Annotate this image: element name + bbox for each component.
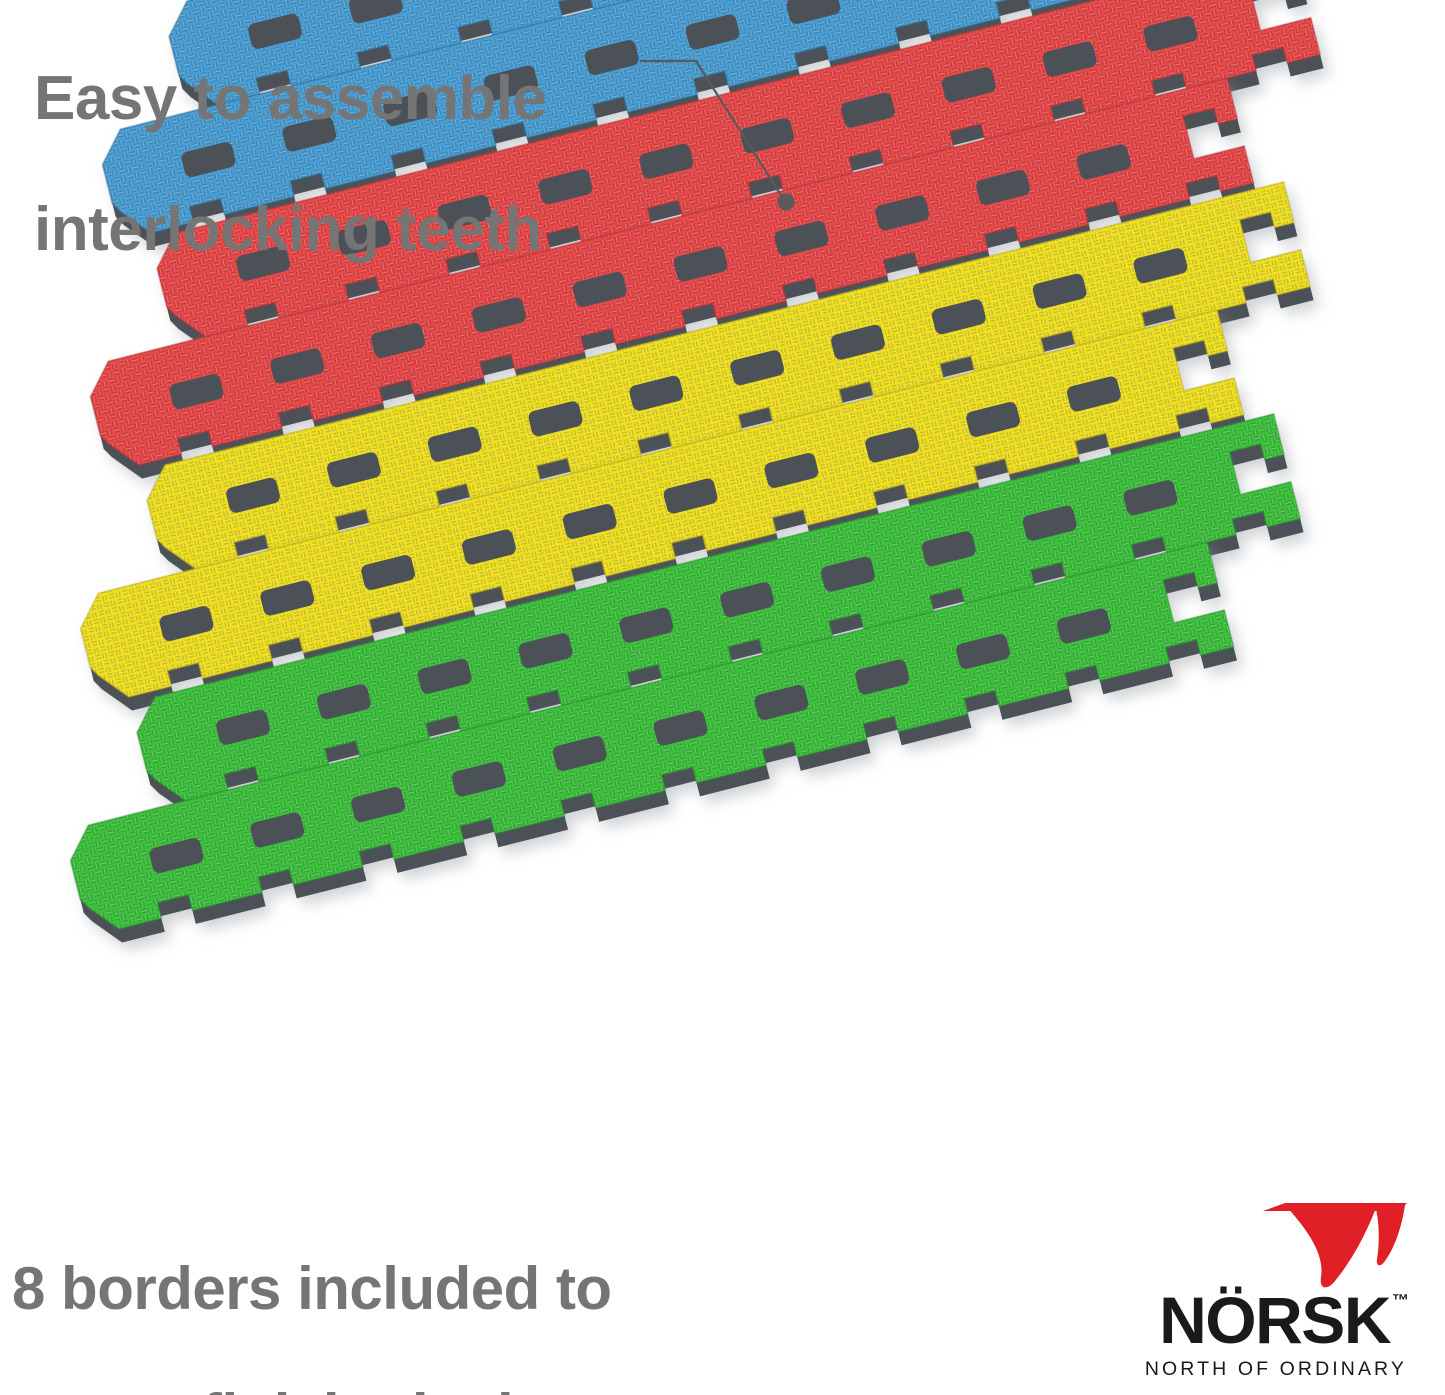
product-image-canvas: Easy to assemble interlocking teeth 8 bo… — [0, 0, 1445, 1395]
footer-line-1: 8 borders included to — [12, 1255, 612, 1322]
norsk-wordmark: NÖRSK — [1159, 1287, 1390, 1353]
headline-line-1: Easy to assemble — [34, 64, 546, 133]
headline-caption: Easy to assemble interlocking teeth — [34, 0, 694, 263]
footer-line-2: create finished edges — [12, 1382, 615, 1395]
norsk-tagline: NORTH OF ORDINARY — [1109, 1358, 1407, 1381]
norsk-wordmark-row: NÖRSK ™ — [1109, 1287, 1409, 1353]
trademark-symbol: ™ — [1392, 1291, 1409, 1311]
norsk-logo: NÖRSK ™ NORTH OF ORDINARY — [1109, 1203, 1409, 1381]
leader-line-with-dot-icon — [630, 45, 860, 225]
headline-line-2: interlocking teeth — [34, 195, 542, 264]
norsk-wing-mark-icon — [1259, 1203, 1407, 1291]
footer-caption: 8 borders included to create finished ed… — [12, 1193, 752, 1395]
